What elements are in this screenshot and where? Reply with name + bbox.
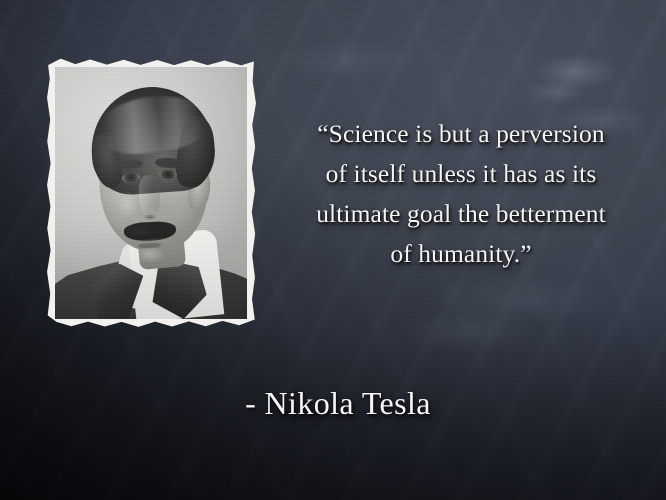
chin-highlight [132, 248, 168, 268]
quote-line-3: ultimate goal the betterment [272, 194, 650, 234]
quote-line-1: “Science is but a perversion [272, 114, 650, 154]
quote-line-2: of itself unless it has as its [272, 154, 650, 194]
quote-text: “Science is but a perversion of itself u… [272, 114, 650, 274]
quote-slide: “Science is but a perversion of itself u… [0, 0, 666, 500]
tesla-portrait-photo [55, 67, 247, 319]
portrait-photo-frame [46, 57, 256, 329]
cheek-highlight [113, 188, 142, 221]
quote-attribution: - Nikola Tesla [150, 383, 526, 423]
quote-line-4: of humanity.” [272, 234, 650, 274]
